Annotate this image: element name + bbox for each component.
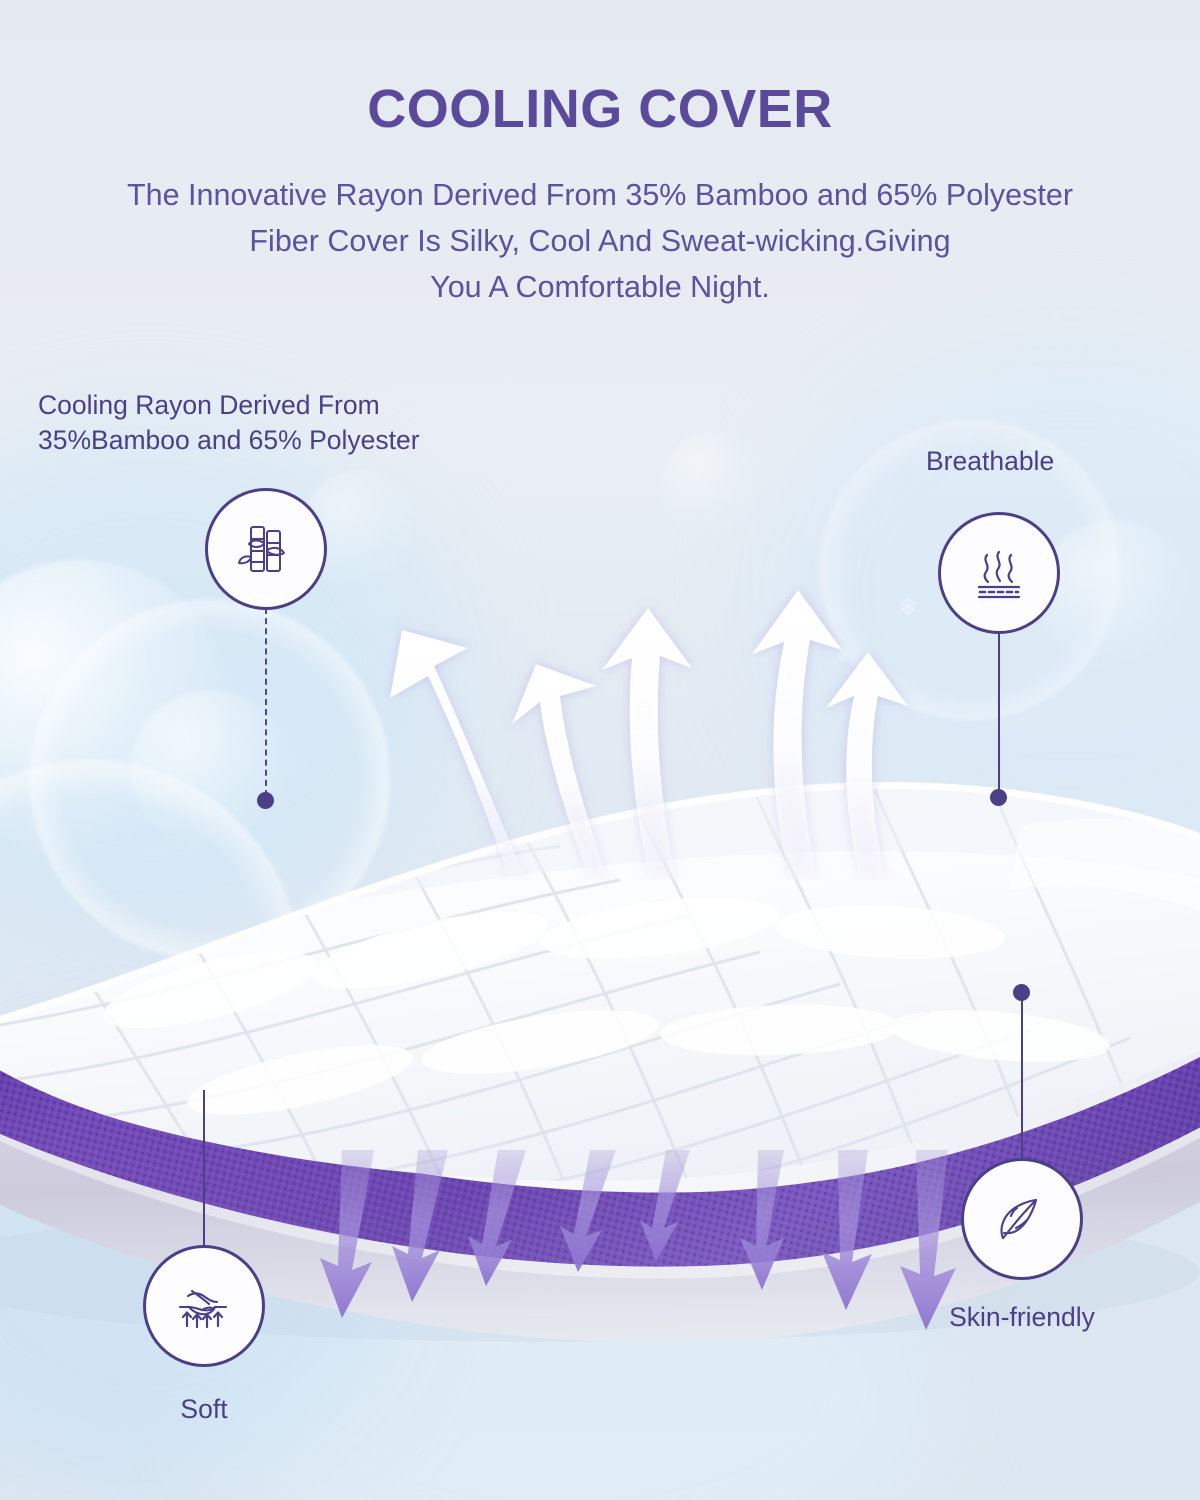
- skin-friendly-leader-line: [1021, 996, 1023, 1160]
- bamboo-leader-line: [265, 608, 267, 796]
- hand-press-icon: [172, 1274, 236, 1338]
- feature-breathable-label: Breathable: [926, 444, 1200, 479]
- feature-skin-friendly-label: Skin-friendly: [921, 1300, 1123, 1335]
- bamboo-badge[interactable]: [205, 488, 327, 610]
- airflow-down-arrows: [290, 1150, 970, 1350]
- subtitle-line-3: You A Comfortable Night.: [35, 264, 1165, 310]
- subtitle-line-2: Fiber Cover Is Silky, Cool And Sweat-wic…: [35, 218, 1165, 264]
- cooling-cover-infographic: ❄ ❄ ❄ ❄ ❄ COOLING COVER The Innovative R…: [0, 0, 1200, 1500]
- page-title: COOLING COVER: [0, 78, 1200, 140]
- soft-leader-line: [203, 1090, 205, 1250]
- feather-icon: [990, 1187, 1054, 1251]
- feature-bamboo-label: Cooling Rayon Derived From 35%Bamboo and…: [38, 388, 558, 458]
- breathable-leader-line: [998, 634, 1000, 794]
- soft-badge[interactable]: [143, 1245, 265, 1367]
- bamboo-icon: [234, 517, 298, 581]
- airflow-up-arrows: [350, 480, 950, 880]
- breathable-badge[interactable]: [938, 512, 1060, 634]
- bamboo-leader-dot: [257, 792, 274, 809]
- feature-soft-label: Soft: [143, 1392, 265, 1427]
- page-subtitle: The Innovative Rayon Derived From 35% Ba…: [35, 172, 1165, 310]
- breathable-leader-dot: [990, 789, 1007, 806]
- skin-friendly-badge[interactable]: [961, 1158, 1083, 1280]
- subtitle-line-1: The Innovative Rayon Derived From 35% Ba…: [35, 172, 1165, 218]
- vapor-fabric-icon: [967, 541, 1031, 605]
